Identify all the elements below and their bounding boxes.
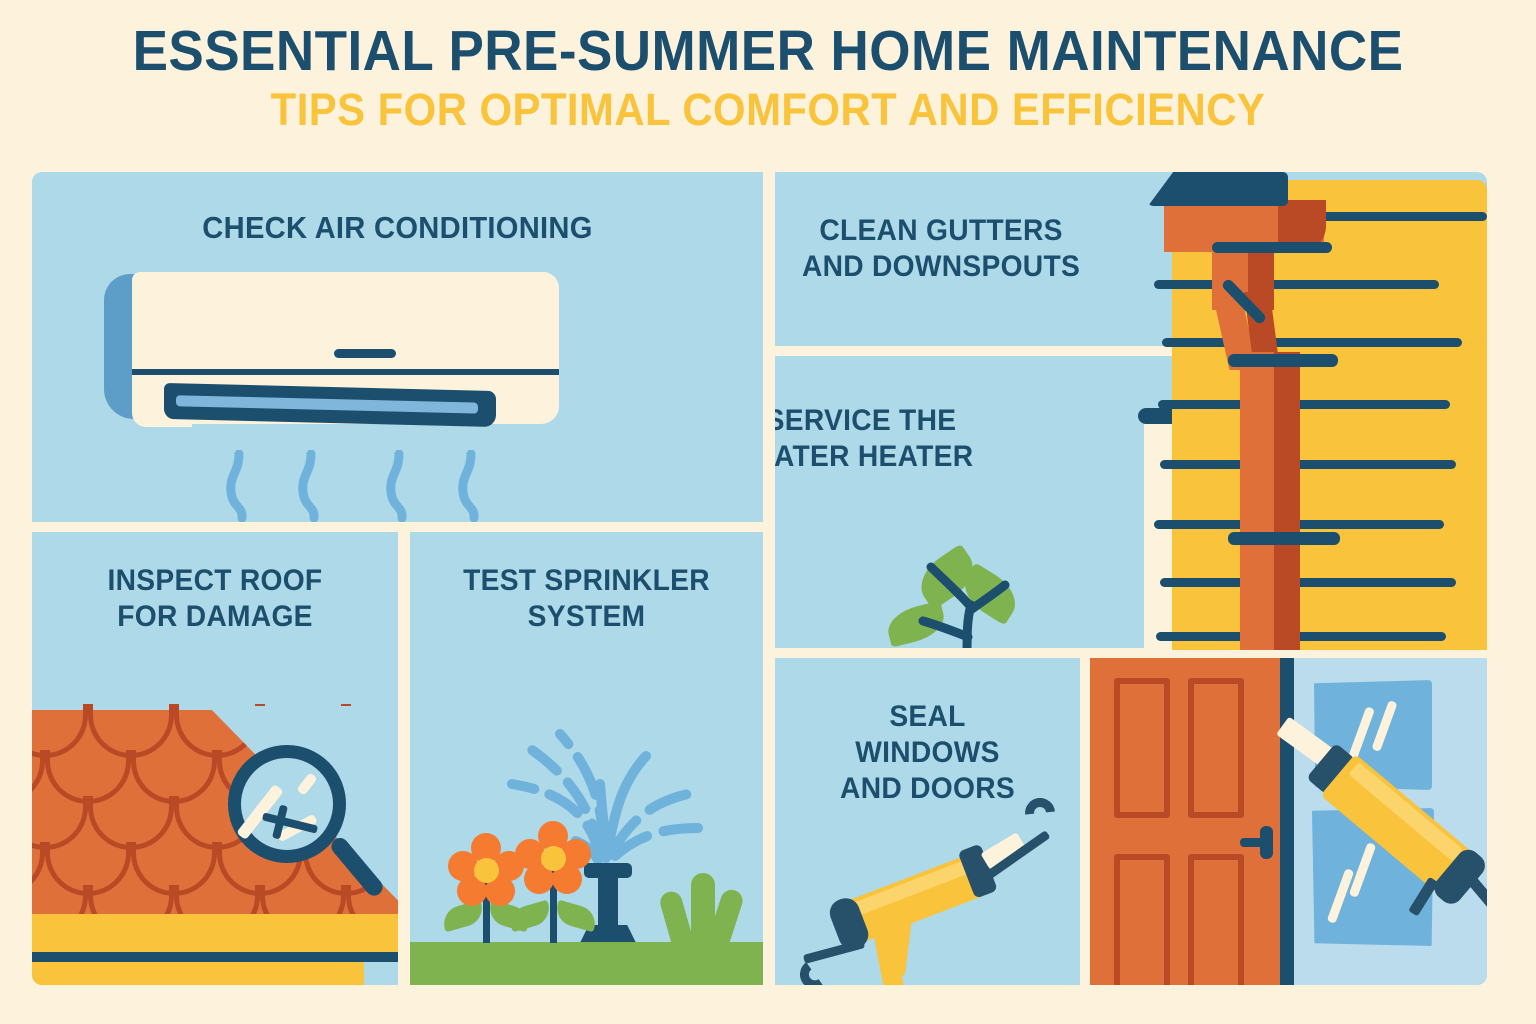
flower-icon — [505, 821, 601, 943]
panel-heading-roof-line2: FOR DAMAGE — [43, 600, 387, 634]
panel-heading-heater-line1: SERVICE THE — [775, 404, 1196, 438]
airflow-wave-icon — [457, 450, 471, 512]
panel-test-sprinkler-system[interactable]: TEST SPRINKLER SYSTEM — [410, 532, 763, 985]
grass-strip — [410, 942, 763, 985]
panel-heading-seal-line2: WINDOWS — [784, 736, 1071, 770]
grass-tuft-icon — [655, 869, 763, 947]
panel-heading-air-conditioning: CHECK AIR CONDITIONING — [54, 210, 741, 245]
infographic-canvas: ESSENTIAL PRE-SUMMER HOME MAINTENANCE TI… — [0, 0, 1536, 1024]
caulk-gun-icon — [797, 786, 1080, 985]
plant-icon — [875, 521, 1025, 648]
title-line-2: TIPS FOR OPTIMAL COMFORT AND EFFICIENCY — [54, 84, 1482, 136]
airflow-wave-icon — [385, 450, 399, 512]
panel-heading-heater-line2: WATER HEATER — [775, 440, 1196, 474]
panel-heading-sprinkler-line1: TEST SPRINKLER — [421, 564, 753, 598]
airflow-wave-icon — [225, 450, 239, 512]
roof-illustration — [32, 710, 398, 985]
downspout-icon — [1200, 248, 1330, 650]
gutter-lip — [1212, 242, 1332, 253]
panel-seal-windows-and-doors[interactable]: SEAL WINDOWS AND DOORS — [775, 658, 1080, 985]
panel-heading-roof-line1: INSPECT ROOF — [43, 564, 387, 598]
page-title: ESSENTIAL PRE-SUMMER HOME MAINTENANCE TI… — [0, 22, 1536, 136]
door-icon — [1090, 658, 1280, 985]
panel-door-and-window-detail[interactable] — [1090, 658, 1487, 985]
air-conditioner-icon — [104, 272, 559, 462]
panel-check-air-conditioning[interactable]: CHECK AIR CONDITIONING — [32, 172, 763, 522]
airflow-wave-icon — [297, 450, 311, 512]
panel-inspect-roof-for-damage[interactable]: INSPECT ROOF FOR DAMAGE — [32, 532, 398, 985]
panel-heading-sprinkler-line2: SYSTEM — [421, 600, 753, 634]
magnifying-glass-icon — [222, 745, 372, 915]
title-line-1: ESSENTIAL PRE-SUMMER HOME MAINTENANCE — [54, 22, 1482, 80]
panel-heading-seal-line1: SEAL — [784, 700, 1071, 734]
